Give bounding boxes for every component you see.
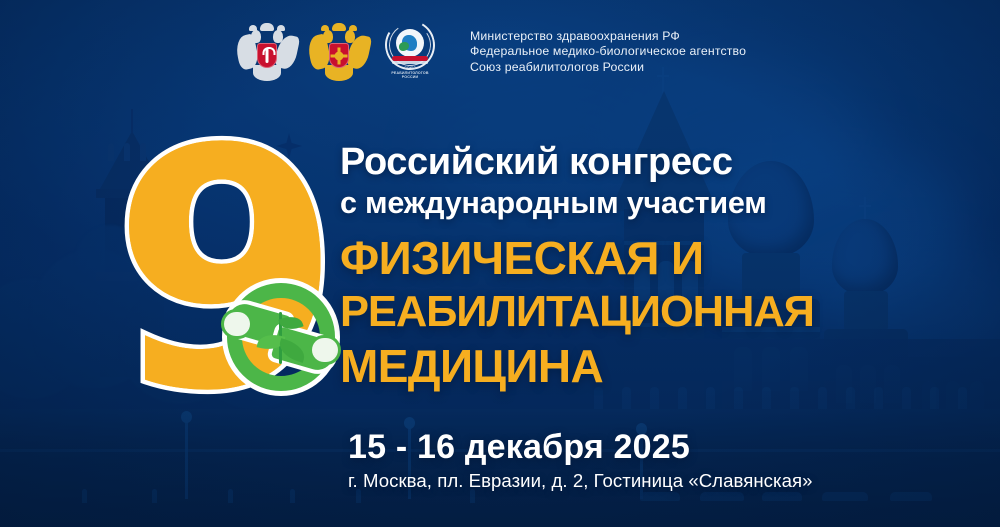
- org-line-ministry: Министерство здравоохранения РФ: [470, 29, 746, 44]
- hands-holding-sprout-emblem: [222, 278, 340, 396]
- fmba-eagle-icon: [310, 21, 368, 83]
- emblem-group: СОЮЗ РЕАБИЛИТОЛОГОВ РОССИИ Министерство …: [238, 20, 746, 84]
- ministry-of-health-eagle-icon: [238, 21, 296, 83]
- sprout-icon: [260, 312, 302, 370]
- event-venue: г. Москва, пл. Евразии, д. 2, Гостиница …: [348, 470, 812, 492]
- event-date: 15 - 16 декабря 2025: [348, 428, 690, 467]
- edition-number-logo: 9 9: [112, 126, 362, 416]
- headline-line2: РЕАБИЛИТАЦИОННАЯ: [340, 285, 870, 339]
- congress-title-line1: Российский конгресс: [340, 140, 870, 184]
- headline-line3: МЕДИЦИНА: [340, 339, 870, 393]
- srr-caption-line3: РОССИИ: [382, 75, 438, 80]
- org-line-fmba: Федеральное медико-биологическое агентст…: [470, 44, 746, 59]
- title-block: Российский конгресс с международным учас…: [340, 140, 870, 393]
- org-line-union: Союз реабилитологов России: [470, 60, 746, 75]
- headline-line1: ФИЗИЧЕСКАЯ И: [340, 231, 870, 285]
- congress-title-line2: с международным участием: [340, 184, 870, 222]
- congress-banner: СОЮЗ РЕАБИЛИТОЛОГОВ РОССИИ Министерство …: [0, 0, 1000, 527]
- congress-headline: ФИЗИЧЕСКАЯ И РЕАБИЛИТАЦИОННАЯ МЕДИЦИНА: [340, 231, 870, 393]
- organisation-names: Министерство здравоохранения РФ Федераль…: [470, 29, 746, 75]
- union-of-rehabilitation-specialists-icon: СОЮЗ РЕАБИЛИТОЛОГОВ РОССИИ: [382, 20, 438, 84]
